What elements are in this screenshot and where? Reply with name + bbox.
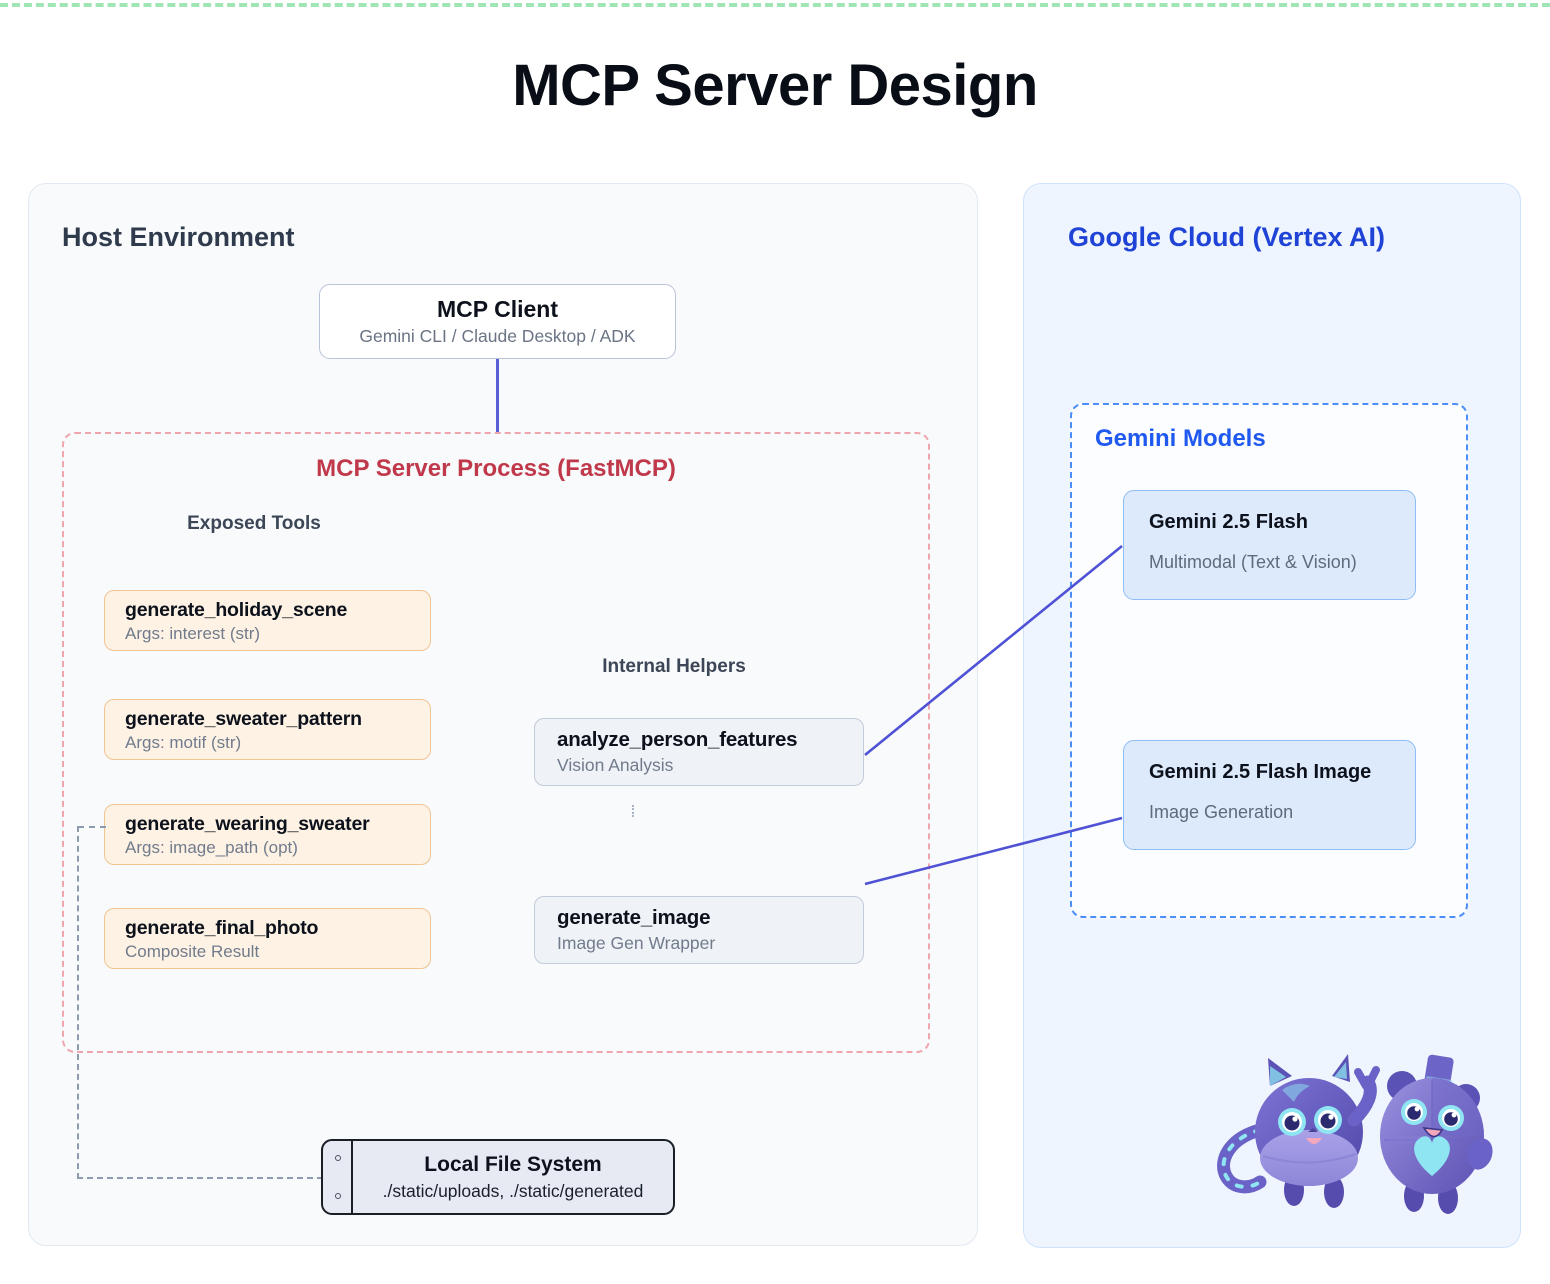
cat-robot-mascot <box>1224 1054 1376 1208</box>
diagram-canvas: MCP Server Design Host Environment Googl… <box>0 0 1550 1284</box>
analyze-to-flash-edge <box>865 546 1122 755</box>
generate-image-to-flash-image-edge <box>865 818 1122 884</box>
bear-robot-mascot-with-top-hat <box>1380 1054 1497 1214</box>
gemini-mascots-illustration <box>1208 1048 1498 1238</box>
